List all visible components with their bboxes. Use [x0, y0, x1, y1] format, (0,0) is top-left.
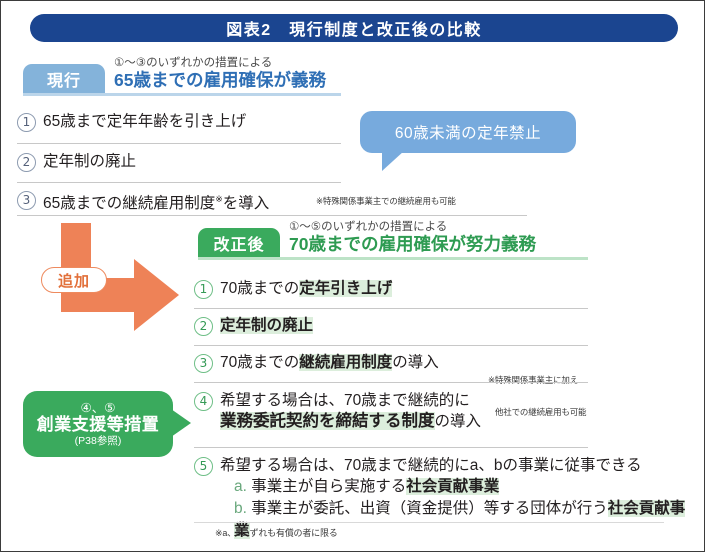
figure-title: 図表2 現行制度と改正後の比較	[226, 16, 481, 40]
figure-page: 図表2 現行制度と改正後の比較 現行 ①～③のいずれかの措置による 65歳までの…	[0, 0, 705, 552]
revised-item-3-note-line1: ※特殊関係事業主に加え	[488, 375, 586, 386]
current-item-2-number: 2	[17, 153, 36, 172]
revised-item-4-line2: 業務委託契約を締結する制度の導入	[220, 411, 640, 432]
current-system-main-heading: 65歳までの雇用確保が義務	[114, 70, 326, 91]
bubble-startup-support-line1: ④、⑤	[81, 401, 116, 415]
current-item-3-text-post: を導入	[223, 195, 270, 212]
add-badge-label: 追加	[58, 270, 90, 291]
revised-item-1-number: 1	[194, 280, 213, 299]
current-item-2: 2 定年制の廃止	[17, 151, 136, 172]
current-separator-3	[17, 215, 527, 216]
revised-item-2: 2 定年制の廃止	[194, 315, 313, 336]
revised-item-3-text: 70歳までの継続雇用制度の導入	[220, 352, 439, 373]
revised-system-main-heading: 70歳までの雇用確保が努力義務	[289, 234, 536, 255]
revised-item-2-highlight: 定年制の廃止	[220, 317, 313, 334]
revised-separator-2	[194, 345, 588, 346]
revised-system-tab-label: 改正後	[213, 231, 264, 255]
revised-item-3-highlight: 継続雇用制度	[299, 354, 392, 371]
bubble-age-60-prohibition-tail	[382, 151, 404, 171]
revised-item-1: 1 70歳までの定年引き上げ	[194, 278, 392, 299]
current-system-underline	[23, 93, 341, 96]
bubble-age-60-prohibition-text: 60歳未満の定年禁止	[395, 121, 541, 143]
revised-item-4-line1: 希望する場合は、70歳まで継続的に	[220, 390, 640, 411]
current-item-3-superscript: ※	[215, 194, 223, 204]
current-item-1: 1 65歳まで定年年齢を引き上げ	[17, 111, 246, 132]
revised-separator-3	[194, 382, 588, 383]
current-item-1-number: 1	[17, 113, 36, 132]
current-item-1-text: 65歳まで定年年齢を引き上げ	[43, 111, 246, 132]
current-system-heading: ①～③のいずれかの措置による 65歳までの雇用確保が義務	[114, 57, 326, 91]
current-system-tab-label: 現行	[47, 67, 81, 91]
bubble-startup-support-line3: (P38参照)	[75, 435, 122, 448]
revised-item-4-text: 希望する場合は、70歳まで継続的に 業務委託契約を締結する制度の導入	[220, 390, 640, 432]
revised-item-5-sub-b-pre: 事業主が委託、出資（資金提供）等する団体が行う	[251, 500, 608, 517]
current-separator-1	[17, 143, 341, 144]
current-separator-2	[17, 182, 341, 183]
figure-title-bar: 図表2 現行制度と改正後の比較	[30, 14, 678, 42]
revised-system-tab: 改正後	[198, 228, 280, 257]
revised-item-2-text: 定年制の廃止	[220, 315, 313, 336]
revised-item-1-highlight: 定年引き上げ	[299, 280, 392, 297]
revised-item-3-plain-pre: 70歳までの	[220, 354, 299, 371]
revised-system-underline	[198, 257, 588, 260]
bubble-startup-support: ④、⑤ 創業支援等措置 (P38参照)	[23, 391, 173, 457]
revised-system-subheading: ①～⑤のいずれかの措置による	[289, 221, 536, 234]
bubble-startup-support-line2: 創業支援等措置	[37, 415, 160, 435]
revised-item-4-highlight: 業務委託契約を締結する制度	[220, 412, 435, 430]
revised-separator-4	[194, 447, 588, 448]
revised-item-5-sub-b-marker: b.	[234, 500, 247, 517]
revised-item-1-text: 70歳までの定年引き上げ	[220, 278, 392, 299]
revised-separator-1	[194, 308, 588, 309]
revised-item-5-number: 5	[194, 457, 213, 476]
current-item-3-text-pre: 65歳までの継続雇用制度	[43, 195, 215, 212]
current-item-3-text: 65歳までの継続雇用制度※を導入	[43, 189, 269, 214]
revised-item-4: 4 希望する場合は、70歳まで継続的に 業務委託契約を締結する制度の導入	[194, 390, 640, 432]
bubble-age-60-prohibition: 60歳未満の定年禁止	[360, 111, 576, 153]
revised-item-5-sub-a: a. 事業主が自ら実施する社会貢献事業	[220, 476, 690, 498]
revised-item-5-line1: 希望する場合は、70歳まで継続的にa、bの事業に従事できる	[220, 455, 690, 476]
current-item-3-note: ※特殊関係事業主での継続雇用も可能	[316, 196, 456, 207]
revised-footnote: ※a、bいずれも有償の者に限る	[215, 528, 338, 539]
revised-item-3-number: 3	[194, 354, 213, 373]
current-item-3-number: 3	[17, 191, 36, 210]
revised-item-3-plain-post: の導入	[392, 354, 439, 371]
revised-item-4-line2-post: の導入	[435, 413, 482, 430]
revised-item-5-sub-a-pre: 事業主が自ら実施する	[251, 478, 406, 495]
revised-footnote-separator	[194, 522, 664, 523]
bubble-startup-support-tail	[171, 409, 191, 437]
add-badge: 追加	[41, 267, 107, 293]
revised-item-5-sub-a-marker: a.	[234, 478, 247, 495]
revised-item-1-plain: 70歳までの	[220, 280, 299, 297]
revised-item-3: 3 70歳までの継続雇用制度の導入	[194, 352, 439, 373]
revised-item-2-number: 2	[194, 317, 213, 336]
current-item-2-text: 定年制の廃止	[43, 151, 136, 172]
current-system-subheading: ①～③のいずれかの措置による	[114, 57, 326, 70]
revised-item-5-sub-a-highlight: 社会貢献事業	[406, 478, 499, 495]
revised-system-heading: ①～⑤のいずれかの措置による 70歳までの雇用確保が努力義務	[289, 221, 536, 255]
revised-item-4-number: 4	[194, 392, 213, 411]
current-item-3: 3 65歳までの継続雇用制度※を導入	[17, 189, 269, 214]
current-system-tab: 現行	[23, 64, 105, 93]
